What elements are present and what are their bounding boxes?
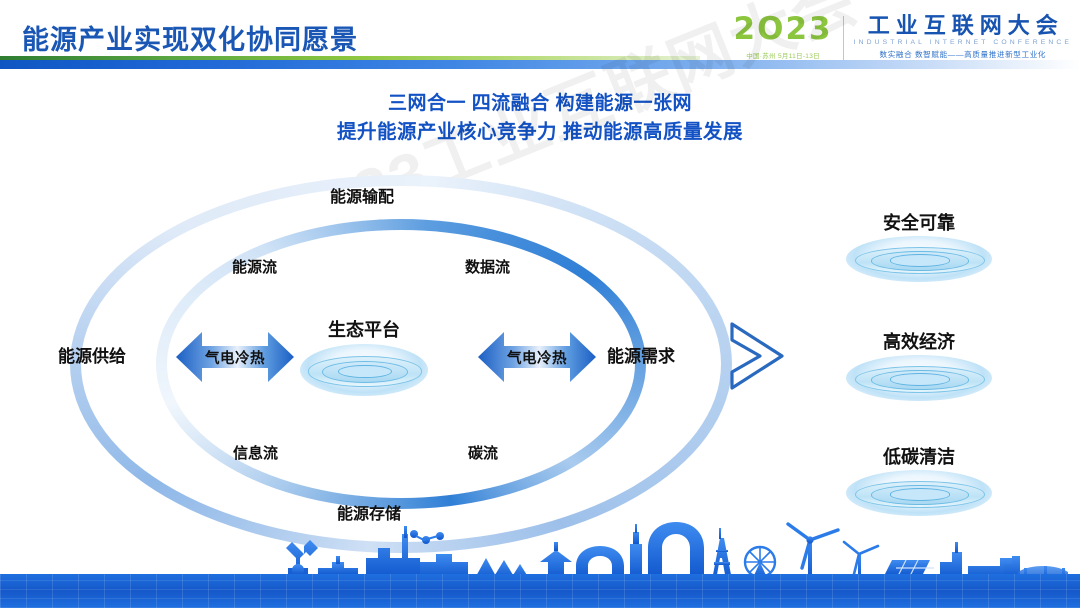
platform-ring-3: [338, 365, 391, 378]
logo-name-cn: 工业互联网大会: [862, 14, 1064, 37]
label-data-flow: 数据流: [465, 256, 510, 277]
double-arrow-left: 气电冷热: [176, 328, 294, 386]
label-energy-supply: 能源供给: [58, 342, 126, 367]
slide-subtitle: 三网合一 四流融合 构建能源一张网 提升能源产业核心竞争力 推动能源高质量发展: [0, 90, 1080, 146]
logo-year-block: 2O23 中国·苏州 5月11日-13日: [734, 14, 843, 60]
label-energy-transmission: 能源输配: [330, 183, 394, 207]
outcome-ring-2c: [890, 373, 950, 385]
logo-name-en: INDUSTRIAL INTERNET CONFERENCE: [854, 39, 1072, 46]
arrow-right-label: 气电冷热: [478, 328, 596, 386]
arrow-left-label: 气电冷热: [176, 328, 294, 386]
logo-divider: [843, 16, 844, 62]
logo-tagline: 数实融合 数智赋能——高质量推进新型工业化: [880, 49, 1047, 60]
skyline-ground-grid: [0, 574, 1080, 608]
subtitle-line-1: 三网合一 四流融合 构建能源一张网: [0, 90, 1080, 118]
outcome-disc-2: 高效经济: [846, 355, 992, 401]
outcome-label-2: 高效经济: [846, 328, 992, 354]
conference-logo: 2O23 中国·苏州 5月11日-13日 工业互联网大会 INDUSTRIAL …: [734, 14, 1072, 72]
outcome-ring-3c: [890, 488, 950, 500]
outcome-disc-3: 低碳清洁: [846, 470, 992, 516]
label-carbon-flow: 碳流: [468, 442, 498, 463]
center-platform-disc: 生态平台: [300, 344, 428, 396]
center-platform-label: 生态平台: [300, 316, 428, 342]
chevron-right-icon: [726, 318, 788, 394]
label-energy-flow: 能源流: [232, 256, 277, 277]
label-information-flow: 信息流: [233, 442, 278, 463]
outcome-ring-1c: [890, 254, 950, 266]
logo-date-place: 中国·苏州 5月11日-13日: [746, 50, 820, 60]
outcome-label-1: 安全可靠: [846, 209, 992, 235]
logo-year: 2O23: [734, 14, 833, 45]
double-arrow-right: 气电冷热: [478, 328, 596, 386]
label-energy-demand: 能源需求: [607, 342, 675, 367]
subtitle-line-2: 提升能源产业核心竞争力 推动能源高质量发展: [0, 118, 1080, 146]
outcome-disc-1: 安全可靠: [846, 236, 992, 282]
slide-canvas: 能源产业实现双化协同愿景 2O23 中国·苏州 5月11日-13日 工业互联网大…: [0, 0, 1080, 608]
page-title: 能源产业实现双化协同愿景: [22, 18, 358, 57]
skyline-footer: [0, 516, 1080, 608]
logo-name-block: 工业互联网大会 INDUSTRIAL INTERNET CONFERENCE 数…: [854, 14, 1072, 60]
outcome-label-3: 低碳清洁: [846, 443, 992, 469]
